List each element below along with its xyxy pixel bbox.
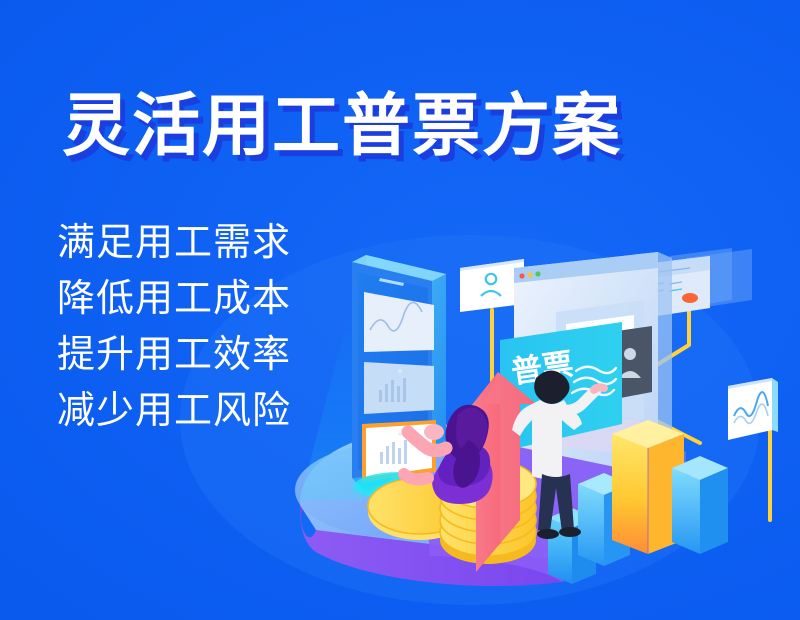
browser-dot-max [535, 271, 540, 276]
page-title: 灵活用工普票方案 [62, 92, 622, 160]
browser-dot-close [519, 273, 524, 278]
benefit-item: 提升用工效率 [57, 327, 291, 383]
benefit-item: 降低用工成本 [57, 271, 291, 327]
phone-card-barchart [364, 362, 434, 414]
poster-root: 普票 [0, 0, 800, 620]
benefit-item: 减少用工风险 [57, 383, 291, 439]
smartphone [352, 255, 446, 500]
benefit-list: 满足用工需求 降低用工成本 提升用工效率 减少用工风险 [57, 215, 291, 439]
bar-4 [672, 456, 728, 554]
benefit-item: 满足用工需求 [57, 215, 291, 271]
card-chip-icon [682, 293, 698, 303]
browser-dot-min [527, 272, 532, 277]
